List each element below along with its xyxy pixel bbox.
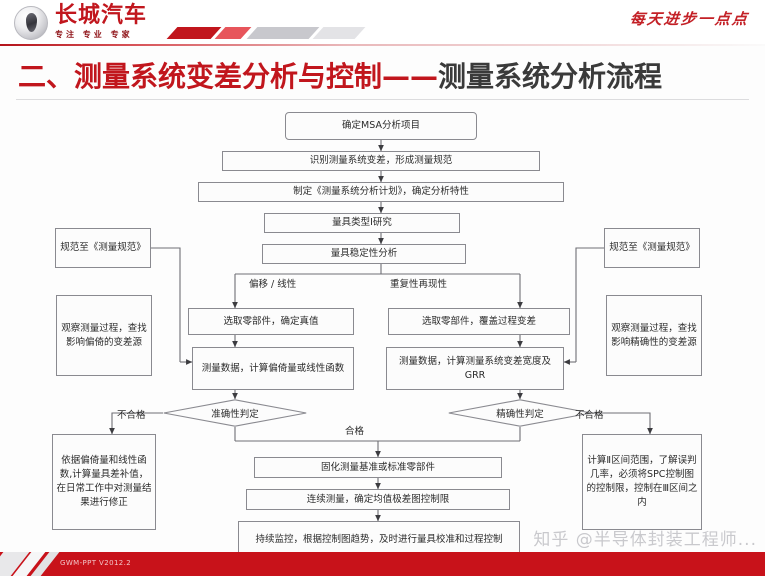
flow-node[interactable]: 确定MSA分析项目: [285, 112, 477, 140]
flow-node[interactable]: 测量数据，计算测量系统变差宽度及GRR: [386, 347, 564, 390]
edge-label: 合格: [342, 423, 367, 437]
flow-node[interactable]: 固化测量基准或标准零部件: [254, 457, 502, 478]
brand-text-block: 长城汽车 专注 专业 专家: [55, 5, 147, 40]
page-title-secondary: 测量系统分析流程: [438, 60, 662, 93]
brand-tagline: 专注 专业 专家: [55, 29, 147, 40]
flow-node[interactable]: 规范至《测量规范》: [604, 228, 700, 268]
edge-label: 偏移 / 线性: [249, 276, 296, 290]
slide-header: 长城汽车 专注 专业 专家 每天进步一点点: [0, 0, 765, 46]
header-swoosh-decoration: [168, 18, 368, 44]
page-title-primary: 二、测量系统变差分析与控制——: [18, 60, 438, 93]
msa-flowchart: 确定MSA分析项目 识别测量系统变差，形成测量规范 制定《测量系统分析计划》，确…: [0, 100, 765, 552]
flow-node[interactable]: 选取零部件，确定真值: [188, 308, 354, 335]
header-slogan: 每天进步一点点: [629, 8, 750, 29]
slide-title-band: 二、测量系统变差分析与控制——测量系统分析流程: [0, 52, 765, 98]
flow-node[interactable]: 识别测量系统变差，形成测量规范: [222, 151, 540, 171]
header-divider: [0, 44, 765, 46]
brand-logo: 长城汽车 专注 专业 专家: [14, 5, 147, 40]
edge-label: 不合格: [117, 407, 146, 421]
flow-decision-label: 精确性判定: [448, 399, 592, 427]
brand-name: 长城汽车: [55, 5, 147, 27]
slide-canvas: 长城汽车 专注 专业 专家 每天进步一点点 二、测量系统变差分析与控制——测量系…: [0, 0, 765, 576]
footer-version: GWM-PPT V2012.2: [60, 559, 131, 567]
page-title: 二、测量系统变差分析与控制——测量系统分析流程: [18, 55, 662, 95]
flow-node[interactable]: 测量数据，计算偏倚量或线性函数: [192, 347, 354, 390]
flow-node[interactable]: 计算Ⅱ区间范围，了解误判几率，必须将SPC控制图的控制限，控制在Ⅲ区间之内: [582, 434, 702, 530]
flow-node[interactable]: 量具稳定性分析: [262, 244, 466, 264]
flow-node[interactable]: 观察测量过程，查找影响精确性的变差源: [606, 295, 702, 376]
watermark: 知乎 @半导体封装工程师...: [533, 525, 757, 550]
edge-label: 不合格: [575, 407, 604, 421]
edge-label: 重复性再现性: [390, 276, 447, 290]
flow-node[interactable]: 观察测量过程，查找影响偏倚的变差源: [56, 295, 152, 376]
flow-node[interactable]: 选取零部件，覆盖过程变差: [388, 308, 570, 335]
flow-decision[interactable]: 准确性判定: [163, 399, 307, 427]
great-wall-emblem-icon: [14, 6, 48, 40]
flow-node[interactable]: 连续测量，确定均值极差图控制限: [246, 489, 510, 510]
slide-footer: GWM-PPT V2012.2: [0, 552, 765, 576]
flow-node[interactable]: 制定《测量系统分析计划》，确定分析特性: [198, 182, 564, 202]
flow-node[interactable]: 规范至《测量规范》: [55, 228, 151, 268]
flow-node[interactable]: 依据偏倚量和线性函数,计算量具差补值，在日常工作中对测量结果进行修正: [52, 434, 156, 530]
flow-decision-label: 准确性判定: [163, 399, 307, 427]
flow-decision[interactable]: 精确性判定: [448, 399, 592, 427]
flow-node[interactable]: 量具类型Ⅰ研究: [264, 213, 460, 233]
